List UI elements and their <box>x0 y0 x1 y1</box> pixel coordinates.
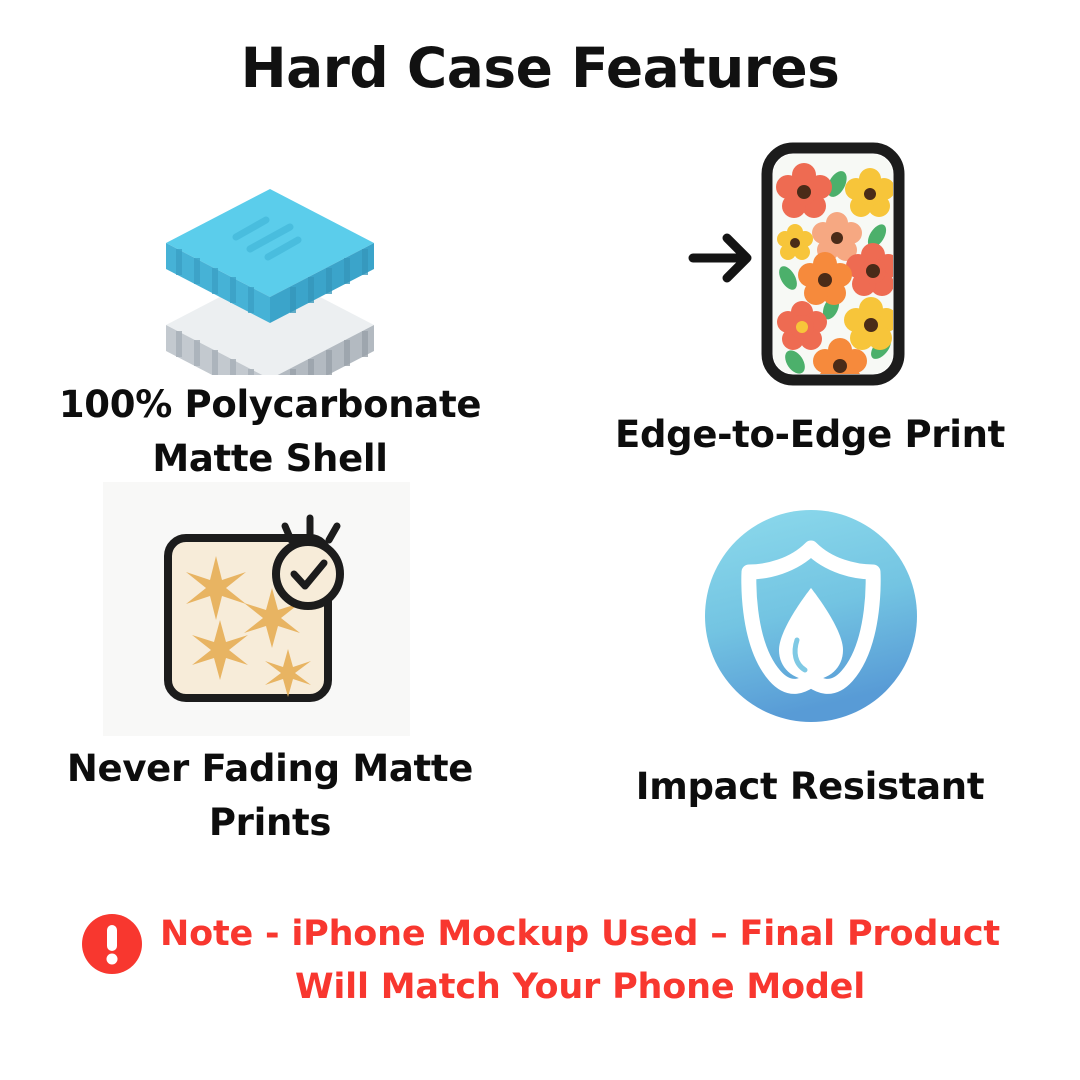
feature-infographic: Hard Case Features <box>0 0 1080 1080</box>
sparkle-rays <box>285 518 337 540</box>
exclamation-circle-icon <box>80 912 144 981</box>
sparkle-square-check-icon <box>150 510 380 735</box>
feature-never-fading-prints: Never Fading Matte Prints <box>0 480 540 860</box>
disclaimer-note: Note - iPhone Mockup Used – Final Produc… <box>0 908 1080 1013</box>
feature-label: Never Fading Matte Prints <box>20 742 520 851</box>
feature-impact-resistant: Impact Resistant <box>540 480 1080 840</box>
feature-label: Impact Resistant <box>580 760 1040 814</box>
feature-label: 100% Polycarbonate Matte Shell <box>20 378 520 487</box>
disclaimer-text: Note - iPhone Mockup Used – Final Produc… <box>160 908 1000 1013</box>
feature-edge-to-edge-print: Edge-to-Edge Print <box>540 120 1080 460</box>
floral-phone-case-icon <box>685 130 935 405</box>
layers-stack-icon <box>150 175 390 380</box>
feature-label: Edge-to-Edge Print <box>580 408 1040 462</box>
arrow-right-icon <box>693 238 747 278</box>
page-title: Hard Case Features <box>0 36 1080 100</box>
shield-droplet-icon <box>705 510 917 727</box>
feature-polycarbonate-shell: 100% Polycarbonate Matte Shell <box>0 150 540 480</box>
